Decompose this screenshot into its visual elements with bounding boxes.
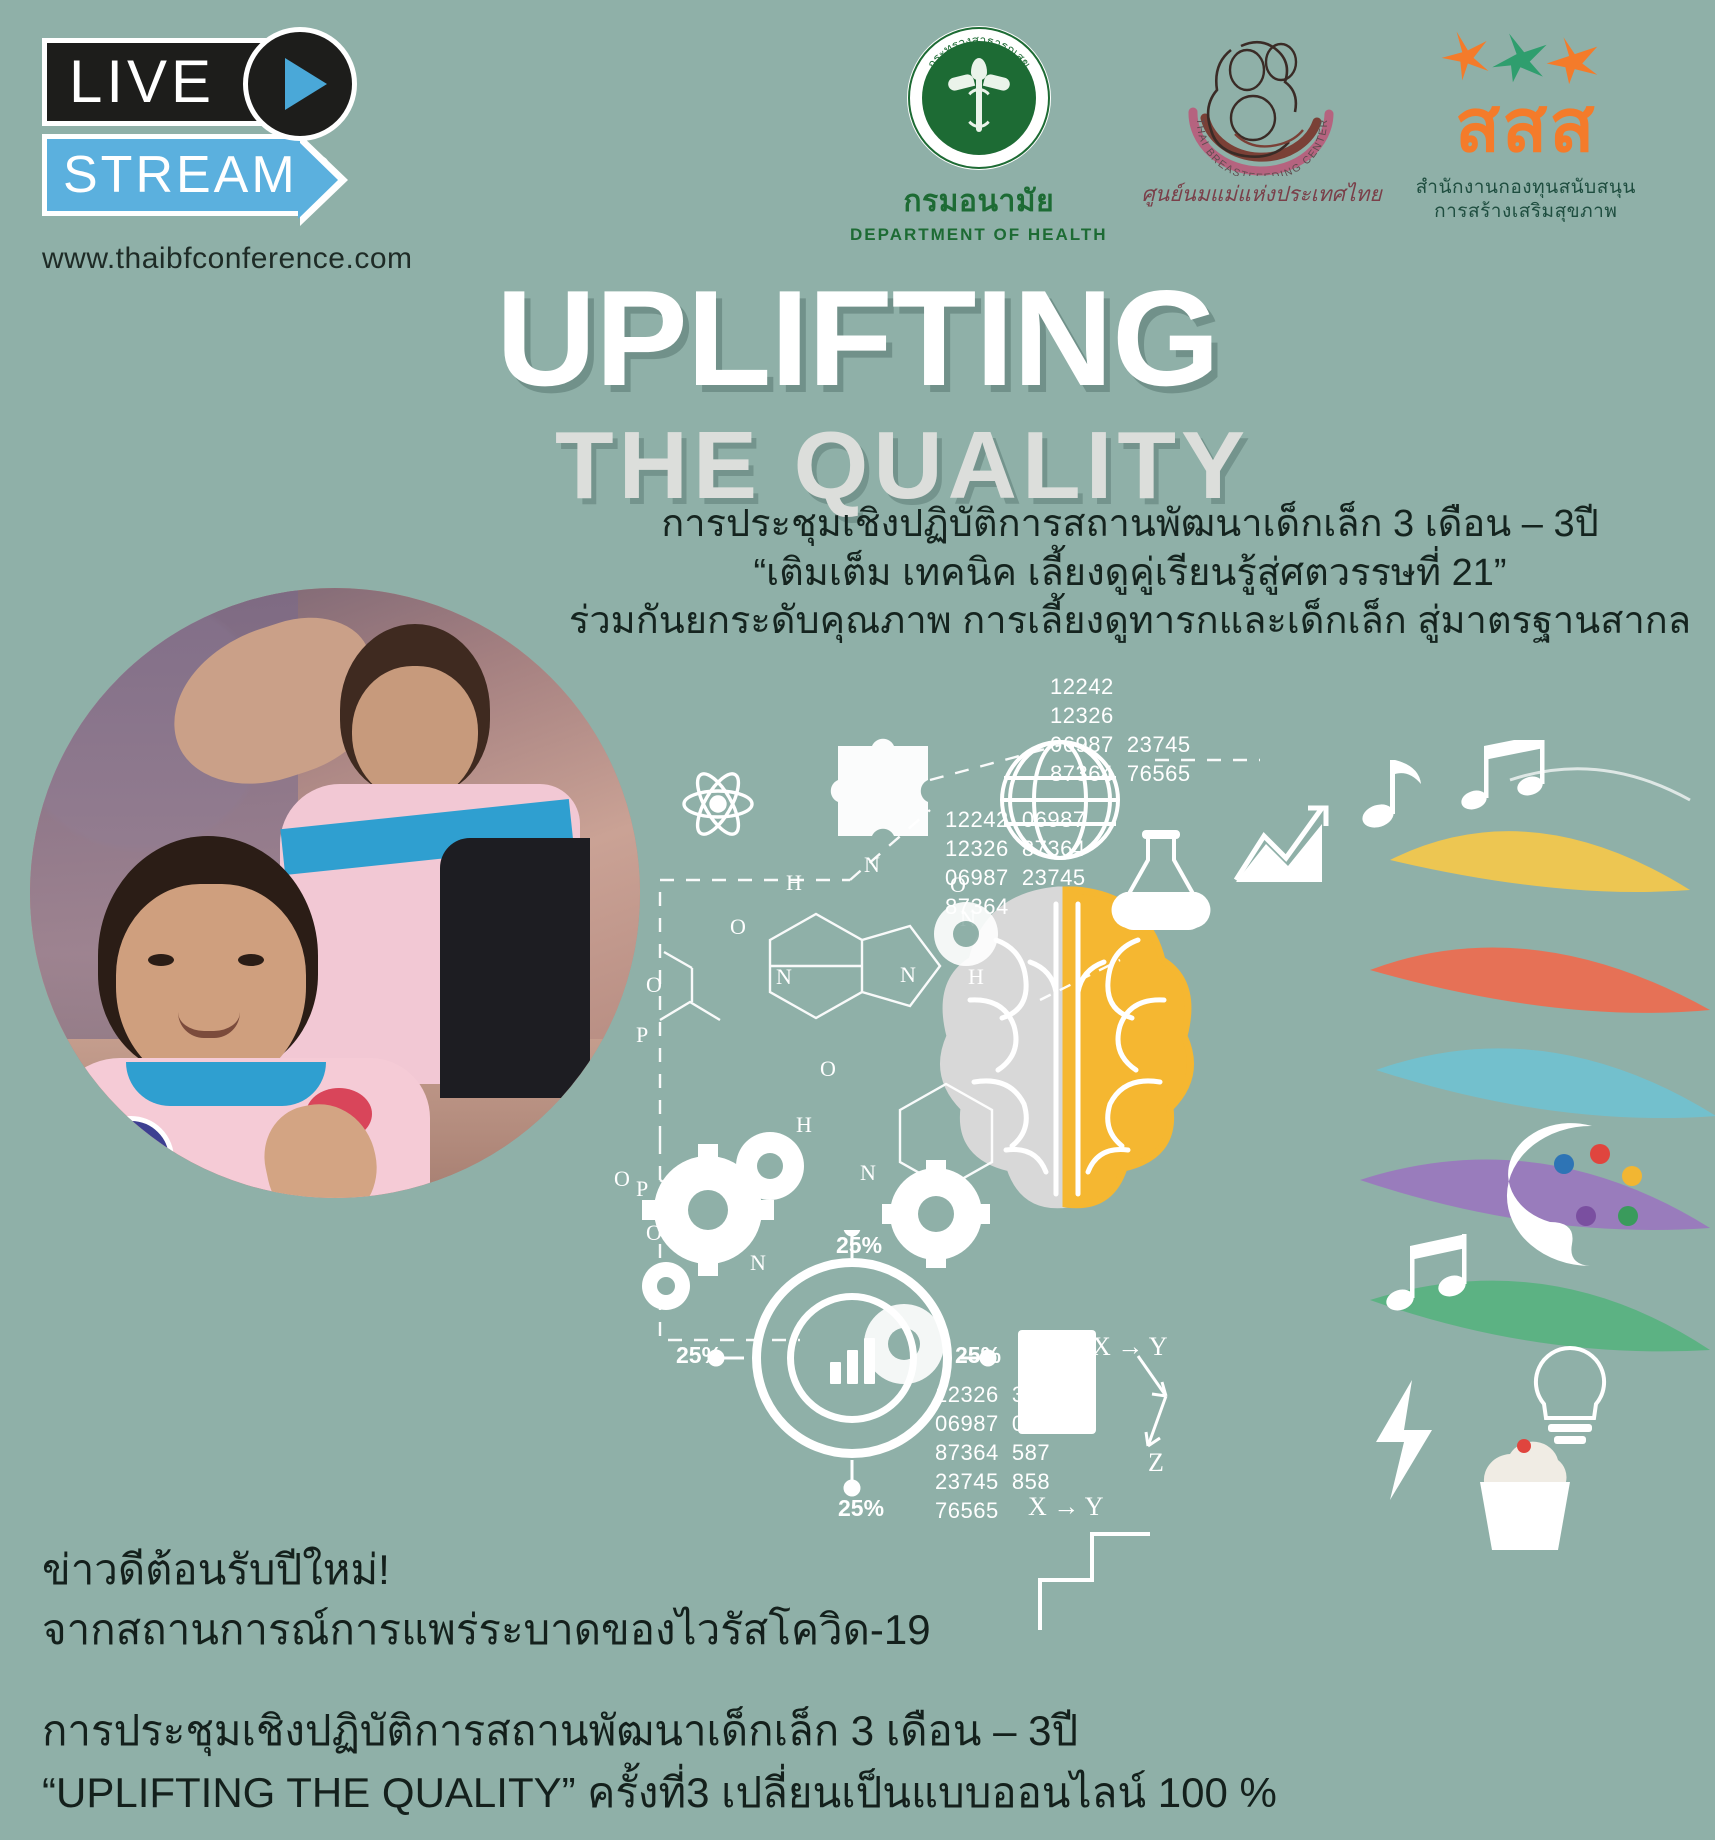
subtitle-line-2: “เติมเต็ม เทคนิค เลี้ยงดูคู่เรียนรู้สู่ศ… [555, 549, 1705, 598]
moph-green-disc [922, 41, 1036, 155]
xy-label-bottom: X → Y [1028, 1492, 1104, 1522]
play-triangle [285, 58, 327, 110]
svg-text:N: N [860, 1160, 876, 1185]
white-card-shape [1018, 1330, 1096, 1434]
svg-text:H: H [796, 1112, 812, 1137]
svg-text:O: O [614, 1166, 630, 1191]
lightbulb-icon [1536, 1348, 1604, 1444]
svg-text:N: N [776, 964, 792, 989]
live-label: LIVE [47, 52, 215, 112]
cupcake-icon [1480, 1439, 1570, 1550]
thaihealth-subtitle-1: สำนักงานกองทุนสนับสนุน [1416, 176, 1636, 200]
subtitle-line-1: การประชุมเชิงปฏิบัติการสถานพัฒนาเด็กเล็ก… [555, 500, 1705, 549]
announcement-block-1: ข่าวดีต้อนรับปีใหม่! จากสถานการณ์การแพร่… [42, 1540, 1142, 1659]
chart-growth-icon [1236, 808, 1326, 882]
announcement-block-2: การประชุมเชิงปฏิบัติการสถานพัฒนาเด็กเล็ก… [42, 1700, 1242, 1824]
thaihealth-stars-icon: สสส [1426, 26, 1626, 176]
moph-seal-icon: กระทรวงสาธารณสุข MINISTRY OF PUBLIC HEAL… [907, 26, 1051, 170]
percent-top: 25% [836, 1232, 882, 1259]
music-note-icon [1359, 760, 1421, 831]
thaihealth-subtitle-2: การสร้างเสริมสุขภาพ [1416, 200, 1636, 224]
streams-label-box: STREAMS [42, 134, 300, 216]
tbc-thai-label: ศูนย์นมแม่แห่งประเทศไทย [1142, 178, 1382, 211]
svg-text:P: P [636, 1022, 648, 1047]
svg-text:O: O [730, 914, 746, 939]
svg-text:O: O [820, 1056, 836, 1081]
svg-text:H: H [786, 870, 802, 895]
logo-thai-breastfeeding-center: THAI BREASTFEEDING CENTER ศูนย์นมแม่แห่ง… [1142, 26, 1382, 211]
number-group-middle: 12242 06987 12326 87364 06987 23745 8736… [945, 805, 1086, 921]
puzzle-icon [831, 739, 928, 836]
streams-label: STREAMS [47, 149, 335, 201]
play-icon[interactable] [243, 27, 357, 141]
live-streams-badge[interactable]: LIVE STREAMS www.thaibfconference.com [42, 38, 372, 276]
svg-text:O: O [646, 972, 662, 997]
number-group-top: 12242 12326 06987 23745 87364 76565 [1050, 672, 1191, 788]
breastfeeding-mother-icon: THAI BREASTFEEDING CENTER [1179, 26, 1344, 176]
flask-icon [1112, 830, 1211, 928]
logo-strip: กระทรวงสาธารณสุข MINISTRY OF PUBLIC HEAL… [850, 26, 1690, 246]
bolt-icon [1376, 1380, 1432, 1500]
announcement-line-1: ข่าวดีต้อนรับปีใหม่! [42, 1540, 1142, 1600]
percent-bottom: 25% [838, 1495, 884, 1522]
logo-thaihealth: สสส สำนักงานกองทุนสนับสนุน การสร้างเสริม… [1416, 26, 1636, 224]
moph-english-label: DEPARTMENT OF HEALTH [850, 225, 1108, 245]
svg-text:N: N [864, 852, 880, 877]
svg-text:P: P [636, 1176, 648, 1201]
creative-art-layer [1330, 740, 1715, 1600]
subtitle-block: การประชุมเชิงปฏิบัติการสถานพัฒนาเด็กเล็ก… [555, 500, 1705, 646]
caduceus-icon [949, 58, 1009, 138]
subtitle-line-3: ร่วมกันยกระดับคุณภาพ การเลี้ยงดูทารกและเ… [555, 597, 1705, 646]
svg-text:H: H [968, 964, 984, 989]
announcement-line-4: “UPLIFTING THE QUALITY” ครั้งที่3 เปลี่ย… [42, 1762, 1242, 1824]
live-label-box: LIVE [42, 38, 300, 126]
arrow-inner [298, 141, 338, 219]
announcement-line-3: การประชุมเชิงปฏิบัติการสถานพัฒนาเด็กเล็ก… [42, 1700, 1242, 1762]
logo-ministry-of-public-health: กระทรวงสาธารณสุข MINISTRY OF PUBLIC HEAL… [850, 26, 1108, 245]
percent-left: 25% [676, 1342, 722, 1369]
music-note-icon-2 [1459, 740, 1545, 813]
poster-root: LIVE STREAMS www.thaibfconference.com [0, 0, 1715, 1840]
svg-text:N: N [900, 962, 916, 987]
percent-right: 25% [955, 1342, 1001, 1369]
announcement-line-2: จากสถานการณ์การแพร่ระบาดของไวรัสโควิด-19 [42, 1600, 1142, 1660]
thaihealth-letters: สสส [1426, 91, 1626, 161]
moph-thai-label: กรมอนามัย [850, 178, 1108, 225]
title-uplifting: UPLIFTING [0, 270, 1715, 406]
child-photo [30, 588, 640, 1198]
